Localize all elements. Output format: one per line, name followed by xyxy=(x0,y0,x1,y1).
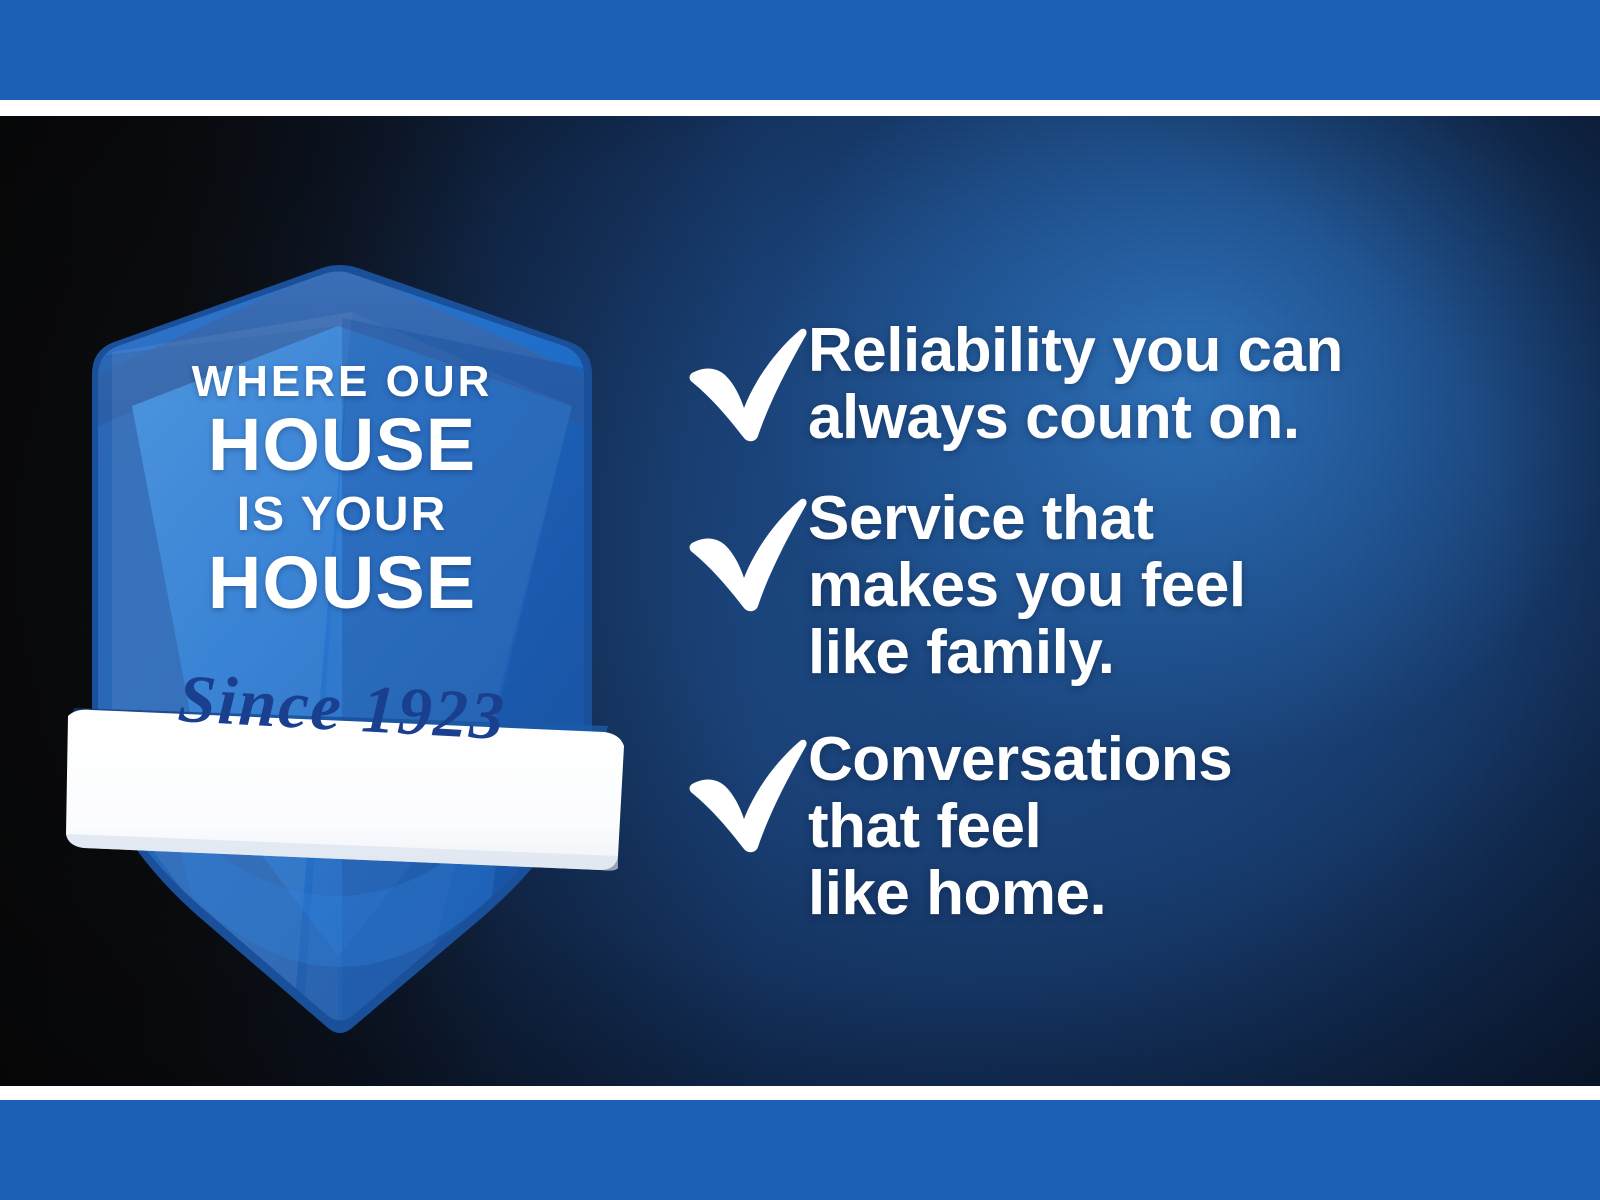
bottom-brand-bar xyxy=(0,1100,1600,1200)
benefit-line: Conversations xyxy=(808,727,1548,794)
benefit-item: Service that makes you feel like family. xyxy=(668,486,1548,687)
benefit-line: that feel xyxy=(808,794,1548,861)
promo-graphic: WHERE OUR HOUSE IS YOUR HOUSE Since 1923… xyxy=(0,0,1600,1200)
benefits-list: Reliability you can always count on. Ser… xyxy=(668,316,1548,952)
benefit-item: Reliability you can always count on. xyxy=(668,316,1548,452)
bottom-white-divider xyxy=(0,1086,1600,1100)
main-stage: WHERE OUR HOUSE IS YOUR HOUSE Since 1923… xyxy=(0,116,1600,1086)
shield-badge: WHERE OUR HOUSE IS YOUR HOUSE Since 1923 xyxy=(52,256,632,956)
checkmark-icon xyxy=(668,727,808,847)
benefit-line: Service that xyxy=(808,486,1548,553)
checkmark-icon xyxy=(668,316,808,436)
benefit-line: Reliability you can xyxy=(808,318,1548,385)
top-white-divider xyxy=(0,100,1600,116)
checkmark-icon xyxy=(668,486,808,606)
top-brand-bar xyxy=(0,0,1600,100)
benefit-line: like family. xyxy=(808,620,1548,687)
benefit-text: Reliability you can always count on. xyxy=(808,316,1548,452)
benefit-item: Conversations that feel like home. xyxy=(668,727,1548,928)
benefit-line: makes you feel xyxy=(808,553,1548,620)
benefit-text: Service that makes you feel like family. xyxy=(808,486,1548,687)
benefit-line: always count on. xyxy=(808,385,1548,452)
benefit-text: Conversations that feel like home. xyxy=(808,727,1548,928)
benefit-line: like home. xyxy=(808,861,1548,928)
ribbon-banner xyxy=(66,708,624,871)
